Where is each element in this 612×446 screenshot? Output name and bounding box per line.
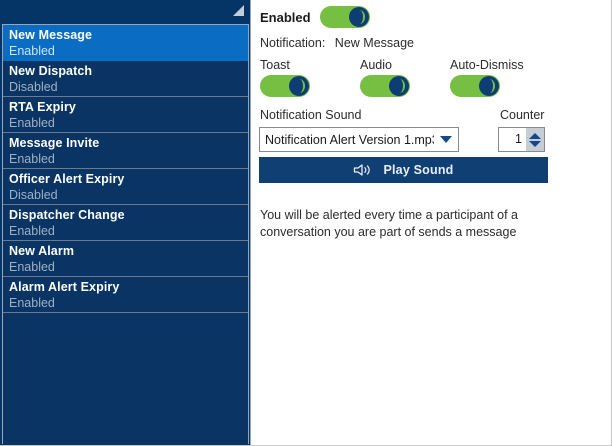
notification-settings-window: New Message Enabled New Dispatch Disable… xyxy=(0,0,612,446)
notification-list-sidebar: New Message Enabled New Dispatch Disable… xyxy=(0,0,251,446)
list-item-status: Disabled xyxy=(9,79,248,95)
list-item[interactable]: Message Invite Enabled xyxy=(3,133,248,169)
enabled-row: Enabled xyxy=(260,6,370,28)
list-item[interactable]: Alarm Alert Expiry Enabled xyxy=(3,277,248,313)
play-sound-button[interactable]: Play Sound xyxy=(259,157,548,183)
list-item-status: Enabled xyxy=(9,223,248,239)
list-item-status: Enabled xyxy=(9,259,248,275)
list-item-status: Disabled xyxy=(9,187,248,203)
list-item-title: Message Invite xyxy=(9,135,248,151)
enabled-toggle[interactable] xyxy=(320,6,370,28)
counter-label: Counter xyxy=(500,108,544,122)
list-item-title: Dispatcher Change xyxy=(9,207,248,223)
list-item-title: New Alarm xyxy=(9,243,248,259)
spinner-down-icon[interactable] xyxy=(529,141,541,147)
list-item-title: Alarm Alert Expiry xyxy=(9,279,248,295)
toast-toggle-group: Toast xyxy=(260,58,310,97)
counter-stepper[interactable]: 1 xyxy=(498,127,545,152)
list-item-status: Enabled xyxy=(9,43,248,59)
notification-sound-label: Notification Sound xyxy=(260,108,361,122)
notification-list[interactable]: New Message Enabled New Dispatch Disable… xyxy=(2,24,249,444)
description-text: You will be alerted every time a partici… xyxy=(260,207,590,241)
auto-dismiss-toggle[interactable] xyxy=(450,75,500,97)
sidebar-header xyxy=(0,0,250,24)
toast-toggle[interactable] xyxy=(260,75,310,97)
auto-dismiss-toggle-group: Auto-Dismiss xyxy=(450,58,524,97)
list-item[interactable]: New Dispatch Disabled xyxy=(3,61,248,97)
play-sound-label: Play Sound xyxy=(383,163,453,177)
list-item[interactable]: RTA Expiry Enabled xyxy=(3,97,248,133)
speaker-icon xyxy=(353,162,375,178)
enabled-label: Enabled xyxy=(260,10,311,25)
toggle-knob xyxy=(479,76,499,96)
notification-prefix-label: Notification: xyxy=(260,36,325,50)
notification-sound-select[interactable]: Notification Alert Version 1.mp3 xyxy=(259,127,459,152)
toggle-knob xyxy=(389,76,409,96)
list-item[interactable]: New Alarm Enabled xyxy=(3,241,248,277)
notification-sound-value: Notification Alert Version 1.mp3 xyxy=(260,133,434,147)
toast-label: Toast xyxy=(260,58,310,72)
chevron-down-icon[interactable] xyxy=(434,136,458,143)
list-item-title: RTA Expiry xyxy=(9,99,248,115)
list-item-title: New Message xyxy=(9,27,248,43)
notification-name-row: Notification: New Message xyxy=(260,36,414,50)
list-item[interactable]: New Message Enabled xyxy=(3,25,248,61)
auto-dismiss-label: Auto-Dismiss xyxy=(450,58,524,72)
spinner-up-icon[interactable] xyxy=(529,133,541,139)
counter-spin-buttons[interactable] xyxy=(526,128,544,151)
list-item-status: Enabled xyxy=(9,115,248,131)
resize-grip-icon[interactable] xyxy=(233,5,244,16)
toggle-knob xyxy=(289,76,309,96)
notification-name-value: New Message xyxy=(335,36,414,50)
audio-toggle[interactable] xyxy=(360,75,410,97)
toggle-knob xyxy=(349,7,369,27)
counter-input[interactable]: 1 xyxy=(499,128,526,151)
audio-toggle-group: Audio xyxy=(360,58,410,97)
audio-label: Audio xyxy=(360,58,410,72)
list-item-status: Enabled xyxy=(9,151,248,167)
notification-detail-panel: Enabled Notification: New Message Toast … xyxy=(252,0,611,445)
list-item-title: New Dispatch xyxy=(9,63,248,79)
list-item[interactable]: Dispatcher Change Enabled xyxy=(3,205,248,241)
list-item-title: Officer Alert Expiry xyxy=(9,171,248,187)
list-item[interactable]: Officer Alert Expiry Disabled xyxy=(3,169,248,205)
list-item-status: Enabled xyxy=(9,295,248,311)
